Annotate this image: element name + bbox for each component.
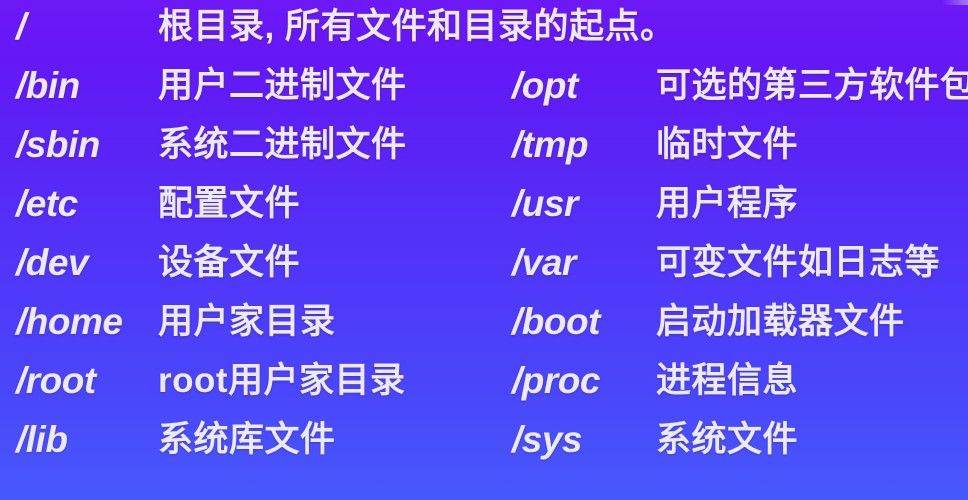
directory-description-left: 配置文件 bbox=[158, 174, 300, 233]
directory-description-left: 用户二进制文件 bbox=[158, 56, 407, 115]
directory-path-left: /bin bbox=[16, 56, 80, 115]
directory-path-right: /var bbox=[512, 233, 576, 292]
directory-path-right: /opt bbox=[512, 56, 578, 115]
table-row: /bin 用户二进制文件 /opt 可选的第三方软件包 bbox=[0, 56, 968, 115]
directory-description-right: 用户程序 bbox=[656, 174, 798, 233]
directory-description-left: 设备文件 bbox=[158, 233, 300, 292]
directory-description-right: 进程信息 bbox=[656, 351, 798, 410]
directory-description-left: 系统二进制文件 bbox=[158, 115, 407, 174]
directory-path-right: /boot bbox=[512, 292, 600, 351]
directory-path-left: /root bbox=[16, 351, 96, 410]
directory-path-left: /dev bbox=[16, 233, 88, 292]
directory-path-left: /etc bbox=[16, 174, 78, 233]
directory-description-left: 用户家目录 bbox=[158, 292, 336, 351]
directory-description-right: 可变文件如日志等 bbox=[656, 233, 940, 292]
directory-path-right: /sys bbox=[512, 410, 582, 469]
slide-canvas: / 根目录, 所有文件和目录的起点。 /bin 用户二进制文件 /opt 可选的… bbox=[0, 0, 968, 500]
directory-path-left: /lib bbox=[16, 410, 67, 469]
directory-description-right: 系统文件 bbox=[656, 410, 798, 469]
directory-path-left: /home bbox=[16, 292, 122, 351]
directory-description-left: 根目录, 所有文件和目录的起点。 bbox=[158, 0, 675, 56]
table-row: /etc 配置文件 /usr 用户程序 bbox=[0, 174, 968, 233]
table-row: /sbin 系统二进制文件 /tmp 临时文件 bbox=[0, 115, 968, 174]
directory-path-left: /sbin bbox=[16, 115, 100, 174]
directory-description-right: 临时文件 bbox=[656, 115, 798, 174]
table-row: /root root用户家目录 /proc 进程信息 bbox=[0, 351, 968, 410]
table-row: /dev 设备文件 /var 可变文件如日志等 bbox=[0, 233, 968, 292]
directory-description-left: 系统库文件 bbox=[158, 410, 336, 469]
directory-path-right: /proc bbox=[512, 351, 600, 410]
directory-path-right: /usr bbox=[512, 174, 578, 233]
directory-description-right: 可选的第三方软件包 bbox=[656, 56, 968, 115]
table-row: / 根目录, 所有文件和目录的起点。 bbox=[0, 0, 968, 56]
directory-path-right: /tmp bbox=[512, 115, 588, 174]
directory-table: / 根目录, 所有文件和目录的起点。 /bin 用户二进制文件 /opt 可选的… bbox=[0, 0, 968, 500]
directory-path-left: / bbox=[16, 0, 26, 56]
directory-description-right: 启动加载器文件 bbox=[656, 292, 905, 351]
directory-description-left: root用户家目录 bbox=[158, 351, 406, 410]
table-row: /lib 系统库文件 /sys 系统文件 bbox=[0, 410, 968, 469]
table-row: /home 用户家目录 /boot 启动加载器文件 bbox=[0, 292, 968, 351]
